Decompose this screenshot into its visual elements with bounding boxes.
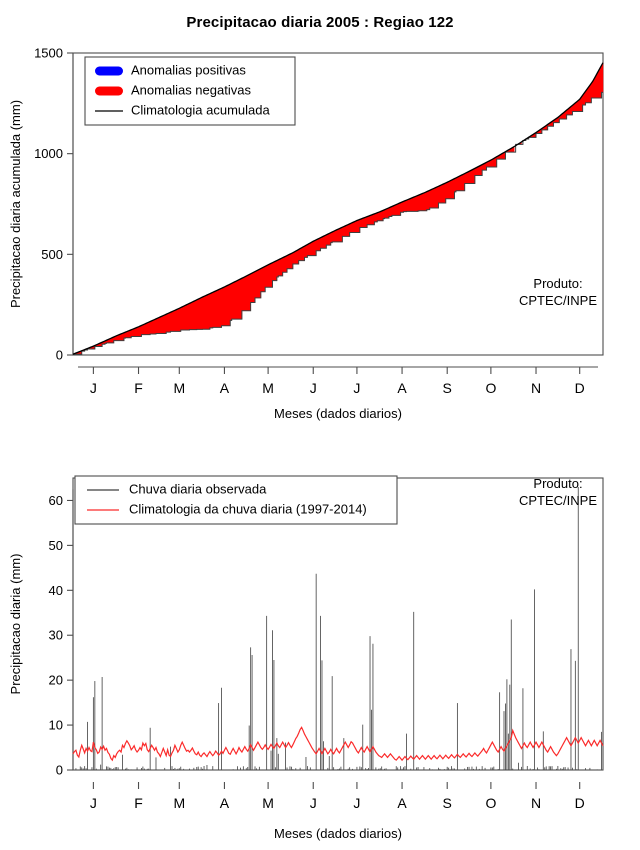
x-tick-label-O: O bbox=[485, 380, 496, 396]
observed-accumulated-line bbox=[73, 92, 603, 354]
x-tick-label-M: M bbox=[173, 380, 185, 396]
x-tick-label-D: D bbox=[575, 795, 585, 811]
x-tick-label-J: J bbox=[353, 380, 360, 396]
legend-label: Climatologia da chuva diaria (1997-2014) bbox=[129, 501, 367, 516]
x-tick-label-A: A bbox=[397, 795, 407, 811]
screenshot-root: Precipitacao diaria 2005 : Regiao 122 05… bbox=[0, 0, 640, 850]
x-tick-label-F: F bbox=[134, 380, 143, 396]
producer-label: Produto: bbox=[533, 476, 582, 491]
y-tick-label: 20 bbox=[49, 673, 63, 688]
y-tick-label: 50 bbox=[49, 538, 63, 553]
producer-label: Produto: bbox=[533, 276, 582, 291]
x-tick-label-J: J bbox=[90, 380, 97, 396]
x-tick-label-M: M bbox=[262, 795, 274, 811]
legend-label: Anomalias positivas bbox=[131, 62, 246, 77]
daily-precipitation-chart: 0102030405060Precipitacao diaria (mm)JFM… bbox=[0, 430, 640, 850]
x-tick-label-J: J bbox=[353, 795, 360, 811]
x-tick-label-A: A bbox=[220, 795, 230, 811]
x-tick-label-S: S bbox=[443, 380, 452, 396]
y-tick-label: 40 bbox=[49, 583, 63, 598]
x-tick-label-M: M bbox=[262, 380, 274, 396]
y-tick-label: 1500 bbox=[34, 46, 63, 61]
daily-precipitation-panel: 0102030405060Precipitacao diaria (mm)JFM… bbox=[0, 430, 640, 850]
y-tick-label: 0 bbox=[56, 348, 63, 363]
producer-name: CPTEC/INPE bbox=[519, 293, 597, 308]
producer-name: CPTEC/INPE bbox=[519, 493, 597, 508]
x-axis-title: Meses (dados diarios) bbox=[274, 406, 402, 421]
daily-rain-bars bbox=[76, 487, 602, 770]
legend-label: Chuva diaria observada bbox=[129, 481, 267, 496]
legend-label: Climatologia acumulada bbox=[131, 102, 271, 117]
y-tick-label: 0 bbox=[56, 763, 63, 778]
x-tick-label-S: S bbox=[443, 795, 452, 811]
legend-swatch bbox=[95, 87, 123, 96]
negative-anomaly-area bbox=[74, 147, 514, 355]
x-tick-label-J: J bbox=[90, 795, 97, 811]
accumulated-precipitation-chart: 050010001500Precipitacao diaria acumulad… bbox=[0, 0, 640, 430]
x-tick-label-A: A bbox=[397, 380, 407, 396]
legend-swatch bbox=[95, 67, 123, 76]
x-tick-label-F: F bbox=[134, 795, 143, 811]
x-tick-label-O: O bbox=[485, 795, 496, 811]
accumulated-precipitation-panel: Precipitacao diaria 2005 : Regiao 122 05… bbox=[0, 0, 640, 430]
y-axis-title: Precipitacao diaria acumulada (mm) bbox=[8, 100, 23, 308]
x-tick-label-N: N bbox=[531, 380, 541, 396]
y-axis-title: Precipitacao diaria (mm) bbox=[8, 554, 23, 695]
legend-label: Anomalias negativas bbox=[131, 82, 251, 97]
y-tick-label: 30 bbox=[49, 628, 63, 643]
x-tick-label-J: J bbox=[310, 795, 317, 811]
x-tick-label-M: M bbox=[173, 795, 185, 811]
x-axis-title: Meses (dados diarios) bbox=[274, 826, 402, 841]
y-tick-label: 60 bbox=[49, 493, 63, 508]
daily-climatology-line bbox=[73, 727, 603, 760]
x-tick-label-J: J bbox=[310, 380, 317, 396]
x-tick-label-A: A bbox=[220, 380, 230, 396]
y-tick-label: 10 bbox=[49, 718, 63, 733]
y-tick-label: 1000 bbox=[34, 146, 63, 161]
x-tick-label-D: D bbox=[575, 380, 585, 396]
y-tick-label: 500 bbox=[41, 247, 63, 262]
x-tick-label-N: N bbox=[531, 795, 541, 811]
